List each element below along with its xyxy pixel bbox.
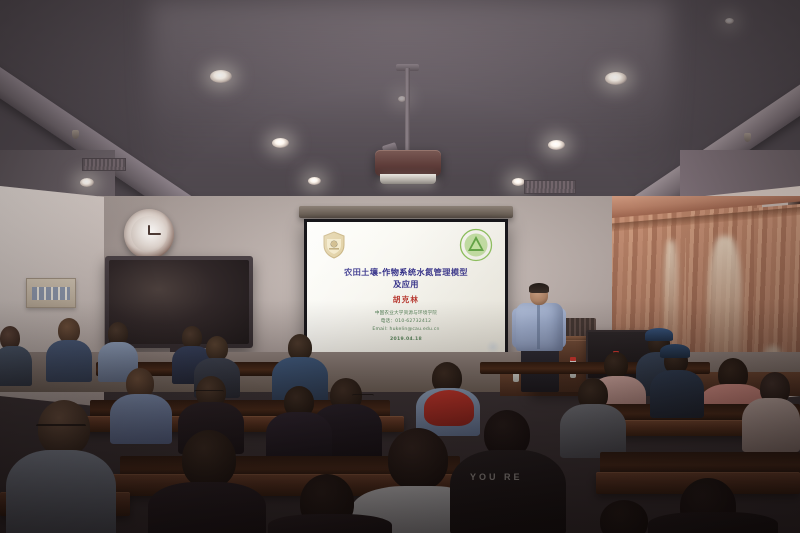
presenter-shirt-placket (537, 305, 540, 349)
slide-author-name: 胡克林 (307, 294, 505, 305)
projection-screen-housing[interactable] (299, 206, 513, 218)
attendee-torso (450, 450, 566, 533)
slide-affiliation-block: 中国农业大学资源与环境学院 电话：010-62732412 Email: huk… (307, 310, 505, 334)
presentation-slide: 农田土壤-作物系统水氮管理模型 及应用 胡克林 中国农业大学资源与环境学院 电话… (307, 222, 505, 359)
ceiling-sprinkler-head (744, 133, 751, 142)
ceiling-downlight (548, 140, 565, 150)
attendee-torso (650, 370, 704, 418)
baseball-cap (645, 328, 673, 341)
baseball-cap (660, 344, 690, 358)
attendee-torso (560, 404, 626, 458)
attendee-torso (148, 482, 266, 533)
ceiling-downlight (210, 70, 232, 83)
eyeglasses (36, 424, 86, 432)
ceiling-sprinkler-head (72, 130, 79, 139)
water-bottle-cap (570, 357, 576, 361)
attendee-torso (46, 340, 92, 382)
ceiling-downlight (80, 178, 94, 187)
attendee-torso (110, 394, 172, 444)
attendee-torso (648, 512, 778, 533)
university-crest-icon (321, 230, 347, 260)
wall-clock-icon (124, 209, 174, 259)
projector-drop-pole (405, 68, 410, 152)
attendee-torso (742, 398, 800, 452)
lecture-hall-photo: 农田土壤-作物系统水氮管理模型 及应用 胡克林 中国农业大学资源与环境学院 电话… (0, 0, 800, 533)
projector-lens-panel (380, 174, 436, 184)
electrical-control-panel[interactable] (26, 278, 76, 308)
television-screen (109, 260, 249, 344)
attendee-head (604, 352, 628, 378)
attendee-torso (0, 346, 32, 386)
ceiling-downlight (725, 18, 734, 24)
slide-date: 2019.04.18 (307, 337, 505, 342)
eyeglasses (352, 394, 374, 399)
ceiling-projector-icon (375, 150, 441, 176)
hoodie-back-text: YOU RE (470, 472, 523, 482)
presenter-hair (529, 283, 549, 293)
clock-minute-hand (149, 233, 161, 235)
eyeglasses (194, 390, 224, 395)
slide-phone: 电话：010-62732412 (307, 318, 505, 326)
projection-screen-frame: 农田土壤-作物系统水氮管理模型 及应用 胡克林 中国农业大学资源与环境学院 电话… (304, 219, 508, 362)
attendee-head (182, 430, 236, 488)
ceiling-downlight (272, 138, 289, 148)
ceiling-air-vent (82, 158, 126, 171)
ceiling-air-vent (524, 180, 576, 194)
attendee-head (600, 500, 648, 533)
red-hood (424, 390, 474, 426)
attendee-head (388, 428, 448, 490)
attendee-torso (6, 450, 116, 533)
ceiling-downlight (605, 72, 627, 85)
ceiling-downlight (308, 177, 321, 185)
panel-breaker-row (32, 287, 70, 300)
slide-affiliation: 中国农业大学资源与环境学院 (307, 310, 505, 318)
slide-title: 农田土壤-作物系统水氮管理模型 及应用 (307, 266, 505, 290)
attendee-torso (268, 514, 392, 533)
slide-email: Email: hukelin@cau.edu.cn (307, 326, 505, 334)
green-circular-leaf-logo-icon (459, 228, 493, 262)
